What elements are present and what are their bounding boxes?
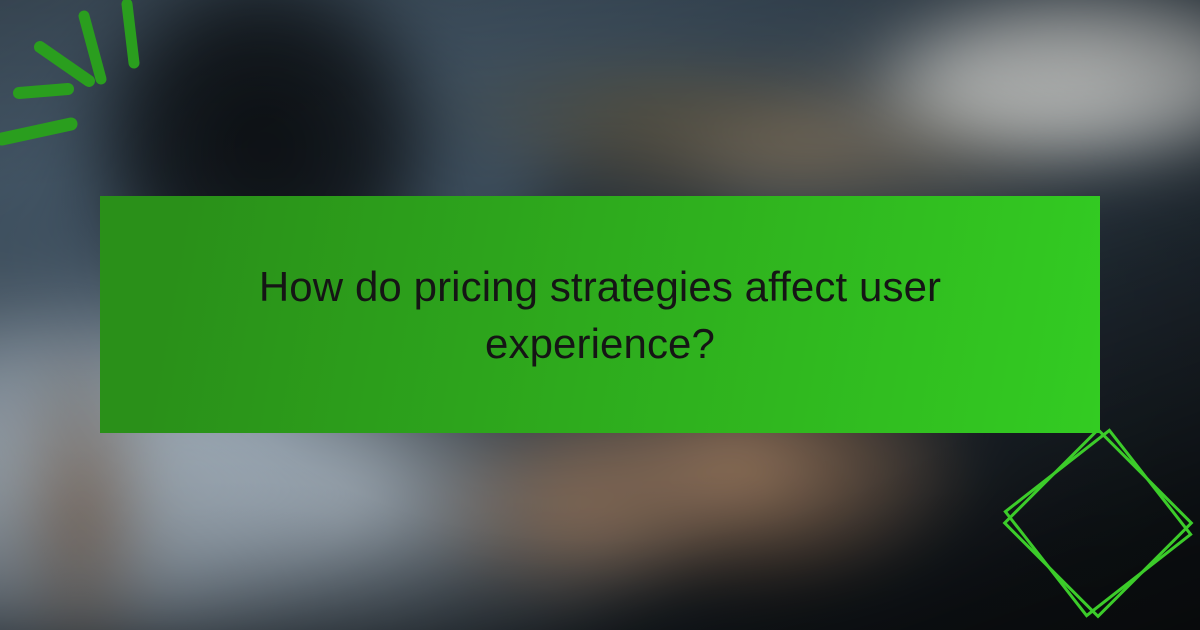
- overlapping-squares-icon: [975, 415, 1200, 630]
- question-banner: How do pricing strategies affect user ex…: [100, 196, 1100, 433]
- question-card: How do pricing strategies affect user ex…: [0, 0, 1200, 630]
- sparkle-burst-icon: [0, 0, 190, 170]
- page-title: How do pricing strategies affect user ex…: [230, 258, 970, 372]
